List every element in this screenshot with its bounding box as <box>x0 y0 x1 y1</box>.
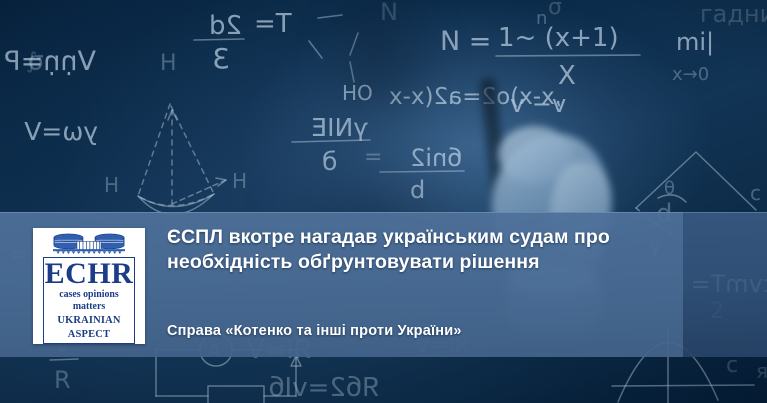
logo-tagline: cases opinions matters <box>47 289 132 313</box>
svg-text:R: R <box>54 366 71 394</box>
svg-text:3: 3 <box>212 42 230 75</box>
svg-text:H: H <box>104 173 119 197</box>
cover-image: σ ∫ Vṇṇ=P yω=V H 2d 3 =T <box>0 0 767 403</box>
svg-text:Яб2=vIб: Яб2=vIб <box>268 373 380 403</box>
echr-building-icon <box>41 232 137 256</box>
banner-subtitle: Справа «Котенко та інші проти України» <box>167 321 667 341</box>
svg-text:yω=V: yω=V <box>24 117 98 146</box>
logo-edition: UKRAINIAN ASPECT <box>46 313 132 341</box>
echr-ukrainian-aspect-logo[interactable]: ECHR cases opinions matters UKRAINIAN AS… <box>33 228 145 344</box>
svg-text:Vṇṇ=P: Vṇṇ=P <box>4 46 96 77</box>
svg-text:σ: σ <box>548 0 562 20</box>
logo-title: ECHR <box>44 259 134 289</box>
svg-text:гаднис: гаднис <box>700 0 767 28</box>
svg-text:x→0: x→0 <box>672 64 709 85</box>
svg-text:mi|: mi| <box>676 28 714 56</box>
svg-text:я: я <box>756 359 767 383</box>
svg-text:с: с <box>750 181 761 205</box>
svg-text:θ: θ <box>664 178 675 199</box>
banner-top-divider <box>0 212 767 213</box>
logo-text-box: ECHR cases opinions matters UKRAINIAN AS… <box>43 257 135 344</box>
svg-text:n: n <box>536 8 547 29</box>
svg-text:H: H <box>160 51 177 76</box>
banner-headline: ЄСПЛ вкотре нагадав українським судам пр… <box>167 225 667 275</box>
